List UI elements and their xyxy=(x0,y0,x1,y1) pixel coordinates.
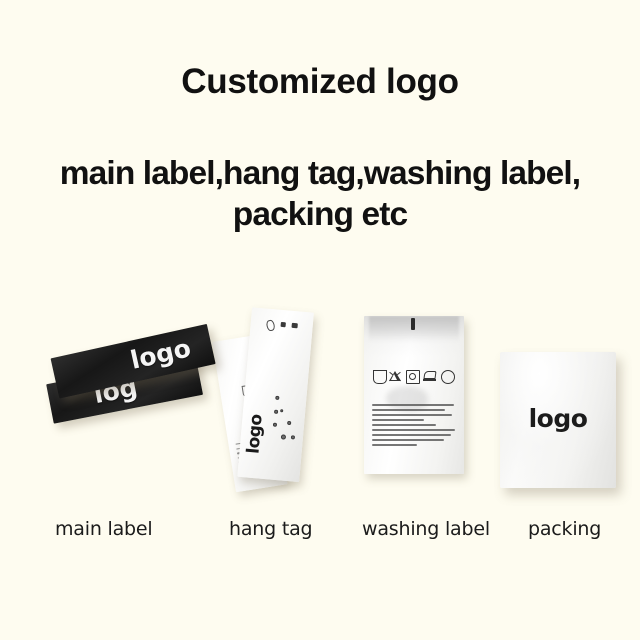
caption-main-label: main label xyxy=(55,518,152,540)
hang-tag-logo-text: logo xyxy=(243,411,267,457)
product-showcase-image: Customized logo main label,hang tag,wash… xyxy=(0,0,640,640)
washing-label-tab-icon xyxy=(411,318,415,330)
hang-tag-dot-icon xyxy=(291,435,295,439)
caption-washing-label: washing label xyxy=(362,518,490,540)
hang-tag-mark-icon xyxy=(281,322,286,327)
subtitle-line-2: packing etc xyxy=(0,194,640,235)
hang-tag-dot-icon xyxy=(273,423,277,427)
caption-packing: packing xyxy=(528,518,601,540)
no-bleach-icon xyxy=(389,370,401,382)
packing-bag-body: logo xyxy=(500,352,616,488)
hang-tag-dot-icon xyxy=(274,410,278,414)
hang-tag-mark-icon xyxy=(291,323,297,329)
page-title: Customized logo xyxy=(0,60,640,104)
product-packing-bag: logo xyxy=(500,352,625,497)
care-symbol-row xyxy=(373,370,455,384)
tumble-dry-icon xyxy=(406,370,420,384)
hang-tag-dot-icon xyxy=(275,396,279,400)
product-main-label: log logo xyxy=(48,350,228,470)
wash-tub-icon xyxy=(373,370,387,384)
product-washing-label xyxy=(364,316,470,486)
dry-clean-icon xyxy=(441,370,455,384)
packing-bag-logo-text: logo xyxy=(500,404,616,433)
product-hang-tag: logo logo xyxy=(212,298,342,498)
subtitle-line-1: main label,hang tag,washing label, xyxy=(60,155,580,192)
hang-tag-front-card: logo xyxy=(237,307,314,482)
caption-hang-tag: hang tag xyxy=(229,518,312,540)
hang-tag-dot-icon xyxy=(281,434,286,439)
hang-tag-dot-icon xyxy=(287,421,291,425)
iron-icon xyxy=(423,371,436,381)
caption-row: main label hang tag washing label packin… xyxy=(0,518,640,548)
woven-label-front-text: logo xyxy=(128,335,193,373)
hang-tag-dot-icon xyxy=(280,409,283,412)
washing-label-body xyxy=(364,316,464,474)
page-subtitle: main label,hang tag,washing label, packi… xyxy=(0,153,640,235)
product-row: log logo logo xyxy=(0,290,640,510)
hang-tag-hole-icon xyxy=(265,319,275,332)
washing-label-care-text xyxy=(372,404,456,449)
